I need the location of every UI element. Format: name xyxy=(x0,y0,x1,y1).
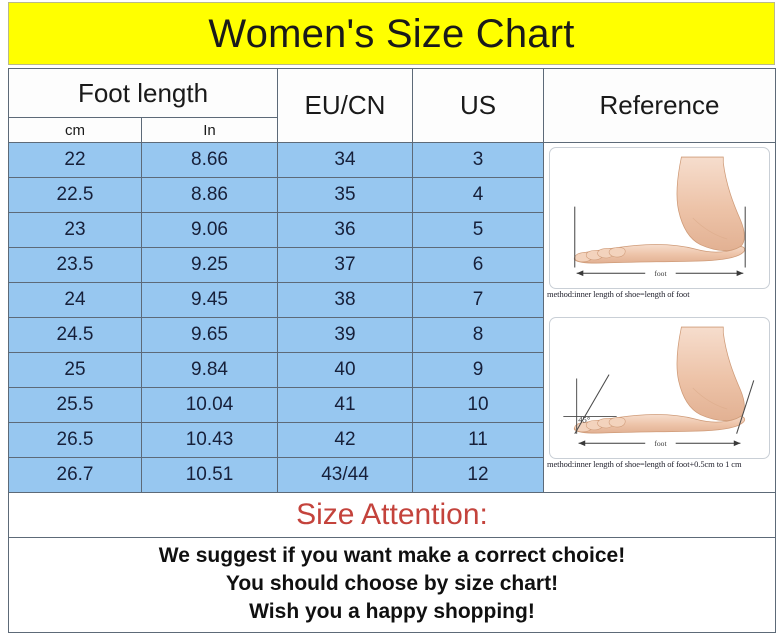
cell-us: 6 xyxy=(413,248,544,283)
table-row: 22 8.66 34 3 xyxy=(9,143,776,178)
foot-side-view-angled-measure-icon: 45° foot xyxy=(549,317,770,459)
cell-us: 5 xyxy=(413,213,544,248)
foot-side-view-straight-measure-icon: foot xyxy=(549,147,770,289)
cell-in: 8.86 xyxy=(142,178,278,213)
cell-eu-cn: 41 xyxy=(278,388,413,423)
cell-in: 9.06 xyxy=(142,213,278,248)
header-in: In xyxy=(142,118,278,143)
cell-cm: 25 xyxy=(9,353,142,388)
cell-us: 10 xyxy=(413,388,544,423)
measure-label-two: foot xyxy=(654,439,667,448)
notice-line-2: You should choose by size chart! xyxy=(9,570,775,598)
cell-eu-cn: 37 xyxy=(278,248,413,283)
cell-eu-cn: 36 xyxy=(278,213,413,248)
size-chart-table: Foot length EU/CN US Reference cm In 22 … xyxy=(8,68,776,633)
cell-cm: 26.5 xyxy=(9,423,142,458)
cell-in: 8.66 xyxy=(142,143,278,178)
cell-us: 4 xyxy=(413,178,544,213)
reference-media-cell: foot method:inner length of shoe=length … xyxy=(544,143,776,493)
cell-eu-cn: 39 xyxy=(278,318,413,353)
header-reference: Reference xyxy=(544,69,776,143)
reference-media-wrapper: foot method:inner length of shoe=length … xyxy=(544,143,775,492)
cell-us: 11 xyxy=(413,423,544,458)
cell-us: 3 xyxy=(413,143,544,178)
cell-cm: 22.5 xyxy=(9,178,142,213)
cell-cm: 24.5 xyxy=(9,318,142,353)
header-foot-length: Foot length xyxy=(9,69,278,118)
cell-us: 7 xyxy=(413,283,544,318)
notice-line-3: Wish you a happy shopping! xyxy=(9,598,775,626)
cell-eu-cn: 34 xyxy=(278,143,413,178)
reference-caption-two: method:inner length of shoe=length of fo… xyxy=(544,459,775,469)
reference-caption-one: method:inner length of shoe=length of fo… xyxy=(544,289,775,299)
cell-eu-cn: 43/44 xyxy=(278,458,413,493)
cell-in: 10.43 xyxy=(142,423,278,458)
header-cm: cm xyxy=(9,118,142,143)
size-notice-row: We suggest if you want make a correct ch… xyxy=(9,538,776,633)
cell-in: 9.25 xyxy=(142,248,278,283)
cell-cm: 24 xyxy=(9,283,142,318)
size-notice-block: We suggest if you want make a correct ch… xyxy=(9,538,776,633)
angle-label: 45° xyxy=(578,414,590,424)
page-title: Women's Size Chart xyxy=(208,14,574,54)
chart-title-banner: Women's Size Chart xyxy=(8,2,775,65)
cell-in: 9.65 xyxy=(142,318,278,353)
header-eu-cn: EU/CN xyxy=(278,69,413,143)
cell-cm: 22 xyxy=(9,143,142,178)
cell-in: 9.45 xyxy=(142,283,278,318)
cell-in: 10.04 xyxy=(142,388,278,423)
cell-eu-cn: 35 xyxy=(278,178,413,213)
size-attention-row: Size Attention: xyxy=(9,493,776,538)
cell-eu-cn: 38 xyxy=(278,283,413,318)
measure-label-one: foot xyxy=(654,269,667,278)
cell-eu-cn: 40 xyxy=(278,353,413,388)
size-attention-heading: Size Attention: xyxy=(9,493,776,538)
cell-cm: 23 xyxy=(9,213,142,248)
cell-cm: 23.5 xyxy=(9,248,142,283)
foot-diagram-angled: 45° foot xyxy=(550,318,769,458)
reference-block-one: foot method:inner length of shoe=length … xyxy=(544,143,775,313)
cell-cm: 26.7 xyxy=(9,458,142,493)
reference-block-two: 45° foot method:inner length of shoe=len… xyxy=(544,313,775,483)
foot-diagram-straight: foot xyxy=(550,148,769,288)
table-header-row-primary: Foot length EU/CN US Reference xyxy=(9,69,776,118)
cell-in: 9.84 xyxy=(142,353,278,388)
size-chart-page: Women's Size Chart Foot length EU/CN US … xyxy=(0,0,781,620)
cell-us: 9 xyxy=(413,353,544,388)
cell-cm: 25.5 xyxy=(9,388,142,423)
notice-line-1: We suggest if you want make a correct ch… xyxy=(9,542,775,570)
cell-us: 8 xyxy=(413,318,544,353)
cell-eu-cn: 42 xyxy=(278,423,413,458)
cell-us: 12 xyxy=(413,458,544,493)
header-us: US xyxy=(413,69,544,143)
cell-in: 10.51 xyxy=(142,458,278,493)
